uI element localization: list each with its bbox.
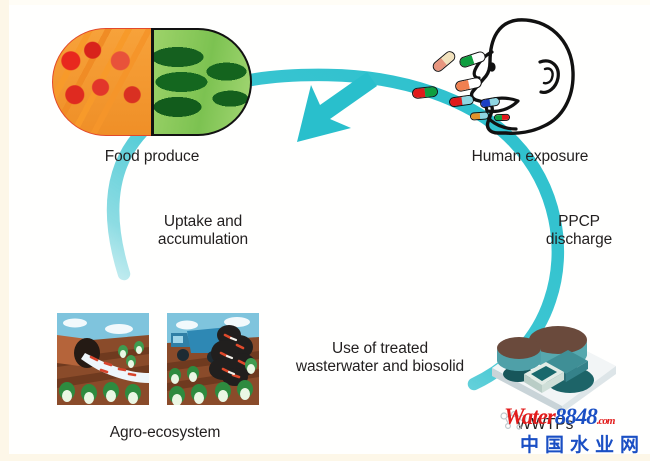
figure-canvas: Food produce [0, 0, 650, 461]
node-wwtps-icon [484, 308, 624, 413]
agro-irrigation-illustration [57, 313, 149, 405]
label-agro-ecosystem: Agro-ecosystem [60, 424, 270, 442]
label-food-produce: Food produce [62, 148, 242, 166]
label-human-exposure: Human exposure [440, 148, 620, 166]
label-use-of-treated-wastewater: Use of treated wasterwater and biosolid [270, 340, 490, 377]
capsule-divider [151, 28, 154, 136]
pill-icon [448, 94, 474, 107]
pill-icon [494, 114, 510, 122]
pills-group [404, 54, 514, 134]
agro-biosolid-truck-illustration [167, 313, 259, 405]
label-ppcp-discharge: PPCP discharge [524, 213, 634, 250]
label-wwtps: WWTPs [500, 416, 590, 434]
capsule-left-half-fruits [52, 28, 152, 136]
node-food-produce-icon [52, 28, 252, 136]
capsule-right-half-vegetables [152, 28, 252, 136]
pill-icon [454, 76, 483, 92]
arrow-head [297, 72, 377, 142]
pill-icon [479, 96, 500, 108]
pill-icon [470, 111, 490, 120]
pill-icon [411, 86, 438, 100]
label-uptake-and-accumulation: Uptake and accumulation [128, 213, 278, 250]
